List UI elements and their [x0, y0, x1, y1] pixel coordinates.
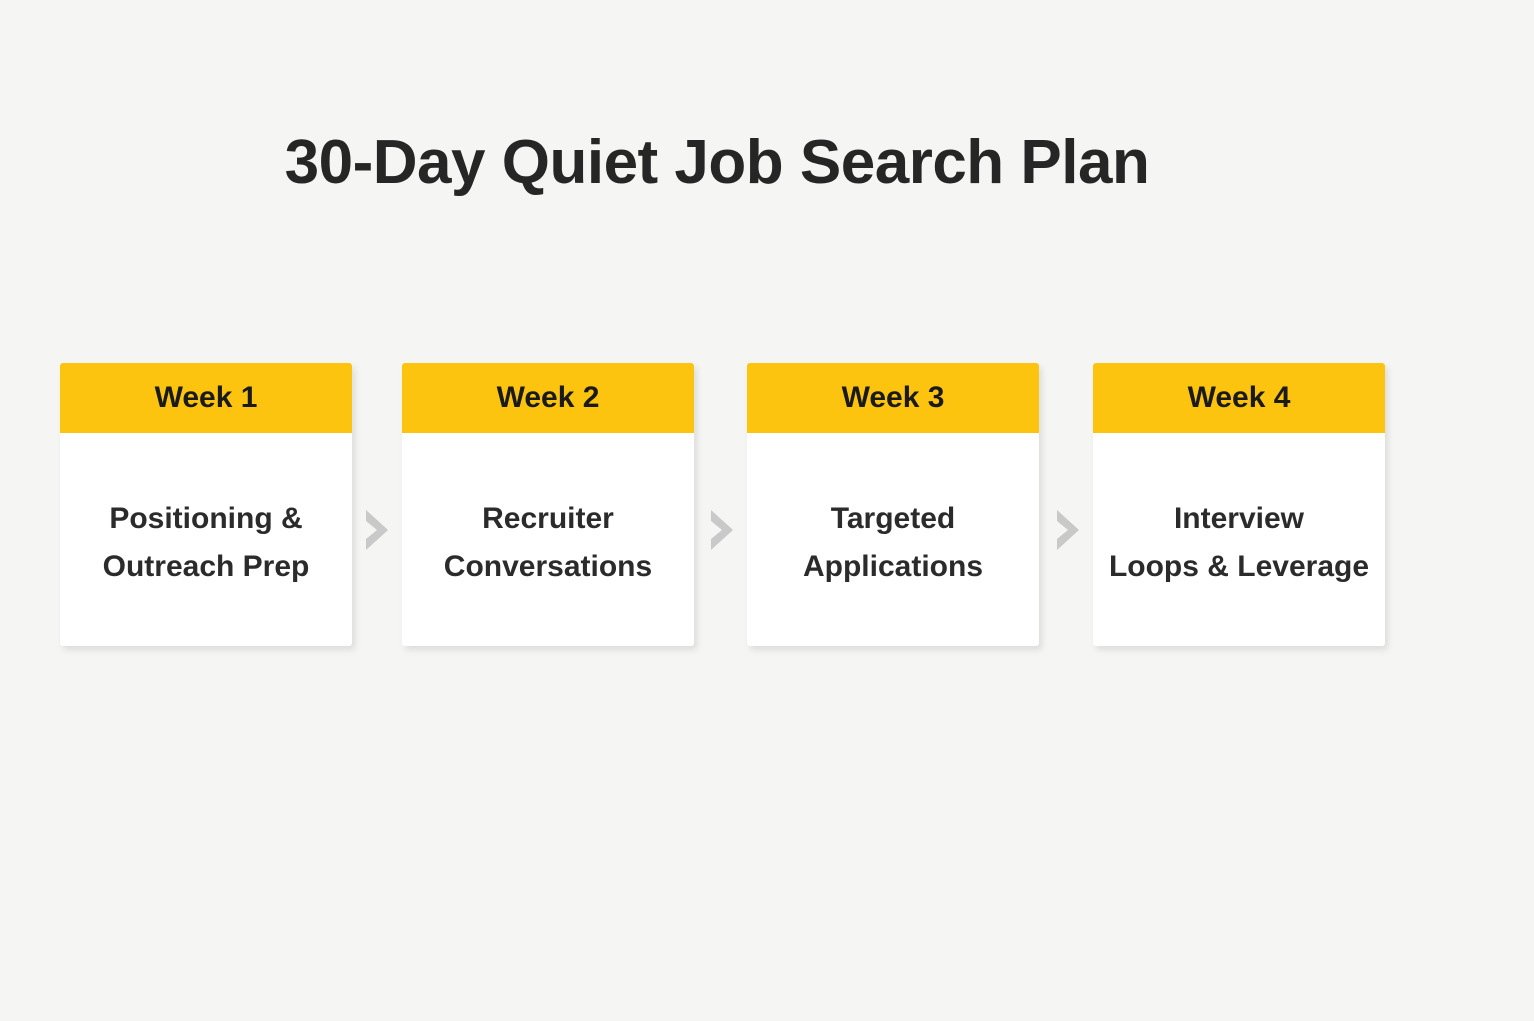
week-card-1-body: Positioning & Outreach Prep [60, 433, 352, 646]
week-card-4-body-text: Interview Loops & Leverage [1101, 495, 1377, 591]
week-card-4-body: Interview Loops & Leverage [1093, 433, 1385, 646]
page-title: 30-Day Quiet Job Search Plan [0, 130, 1434, 195]
week-card-3[interactable]: Week 3 Targeted Applications [747, 363, 1039, 646]
week-card-2-body: Recruiter Conversations [402, 433, 694, 646]
week-card-2[interactable]: Week 2 Recruiter Conversations [402, 363, 694, 646]
week-card-1[interactable]: Week 1 Positioning & Outreach Prep [60, 363, 352, 646]
week-card-3-header: Week 3 [747, 363, 1039, 433]
slide-canvas: 30-Day Quiet Job Search Plan Week 1 Posi… [0, 0, 1534, 1021]
week-card-1-body-text: Positioning & Outreach Prep [95, 495, 318, 591]
week-card-1-header-label: Week 1 [155, 383, 258, 413]
week-card-2-body-text: Recruiter Conversations [436, 495, 660, 591]
week-card-4-header-label: Week 4 [1188, 383, 1291, 413]
chevron-right-icon [1051, 508, 1085, 552]
week-card-3-header-label: Week 3 [842, 383, 945, 413]
week-card-3-body-text: Targeted Applications [795, 495, 991, 591]
week-card-4-header: Week 4 [1093, 363, 1385, 433]
week-card-1-header: Week 1 [60, 363, 352, 433]
week-card-2-header-label: Week 2 [497, 383, 600, 413]
week-card-3-body: Targeted Applications [747, 433, 1039, 646]
week-card-row: Week 1 Positioning & Outreach Prep Week … [60, 363, 1390, 646]
chevron-right-icon [705, 508, 739, 552]
week-card-2-header: Week 2 [402, 363, 694, 433]
week-card-4[interactable]: Week 4 Interview Loops & Leverage [1093, 363, 1385, 646]
chevron-right-icon [360, 508, 394, 552]
